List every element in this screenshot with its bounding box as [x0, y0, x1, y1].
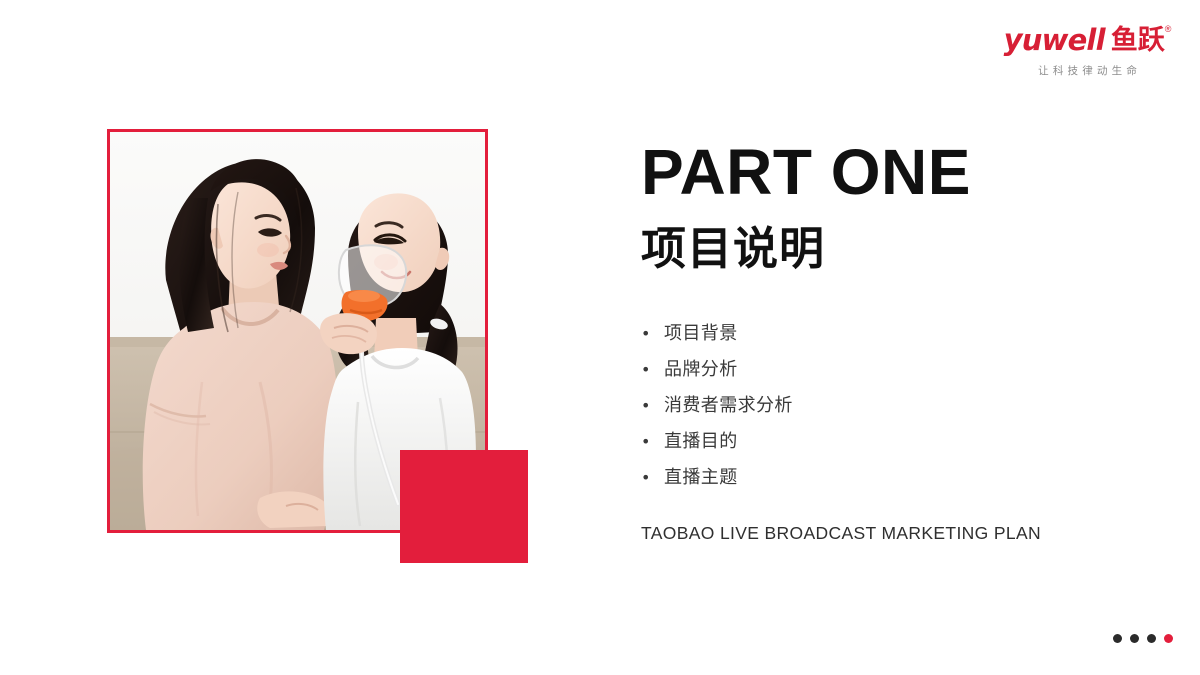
pagination-dot[interactable] [1130, 634, 1139, 643]
brand-logo: yuwell鱼跃® 让科技律动生命 [995, 26, 1180, 86]
page-title: PART ONE [641, 140, 1161, 204]
list-item[interactable]: • 直播主题 [641, 467, 1161, 490]
list-item[interactable]: • 消费者需求分析 [641, 395, 1161, 418]
bullet-icon: • [641, 470, 664, 486]
agenda-list: • 项目背景 • 品牌分析 • 消费者需求分析 • 直播目的 • 直播主题 [641, 323, 1161, 490]
pagination-dot-active[interactable] [1164, 634, 1173, 643]
slide-root: yuwell鱼跃® 让科技律动生命 [0, 0, 1200, 675]
brand-lockup: yuwell鱼跃® [995, 26, 1180, 56]
pagination-dot[interactable] [1147, 634, 1156, 643]
pagination-dots [1113, 634, 1173, 643]
bullet-icon: • [641, 398, 664, 414]
brand-tagline: 让科技律动生命 [995, 63, 1180, 78]
list-item-label: 直播主题 [664, 467, 738, 490]
list-item-label: 品牌分析 [664, 359, 738, 382]
registered-trademark-icon: ® [1165, 24, 1172, 34]
list-item-label: 项目背景 [664, 323, 738, 346]
bullet-icon: • [641, 362, 664, 378]
brand-wordmark-latin: yuwell [1004, 23, 1105, 57]
list-item[interactable]: • 品牌分析 [641, 359, 1161, 382]
list-item[interactable]: • 直播目的 [641, 431, 1161, 454]
bullet-icon: • [641, 434, 664, 450]
red-accent-square [400, 450, 528, 563]
brand-wordmark-cjk: 鱼跃 [1111, 25, 1165, 56]
plan-caption: TAOBAO LIVE BROADCAST MARKETING PLAN [641, 523, 1161, 544]
list-item[interactable]: • 项目背景 [641, 323, 1161, 346]
page-subtitle: 项目说明 [641, 226, 1161, 271]
bullet-icon: • [641, 326, 664, 342]
pagination-dot[interactable] [1113, 634, 1122, 643]
content-column: PART ONE 项目说明 • 项目背景 • 品牌分析 • 消费者需求分析 • … [641, 140, 1161, 544]
list-item-label: 消费者需求分析 [664, 395, 793, 418]
list-item-label: 直播目的 [664, 431, 738, 454]
